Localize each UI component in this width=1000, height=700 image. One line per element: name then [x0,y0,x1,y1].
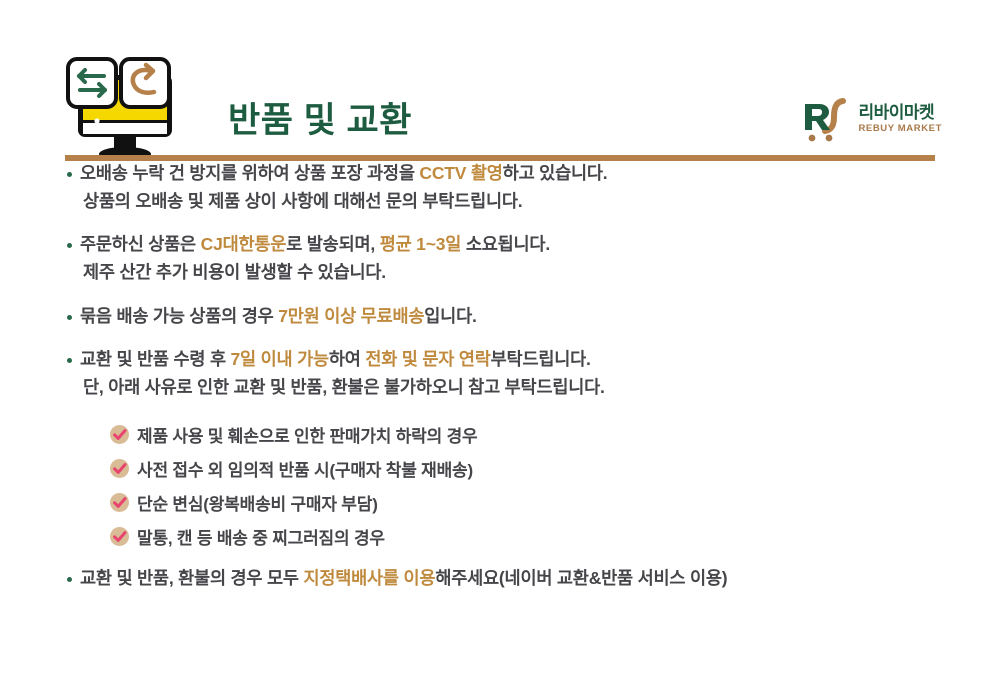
highlighted-text: 7일 이내 가능 [231,349,329,369]
check-circle-icon [110,527,129,546]
body-text: 하여 [329,349,365,369]
body-text: 해주세요(네이버 교환&반품 서비스 이용) [435,568,727,588]
check-list-item: 사전 접수 외 임의적 반품 시(구매자 착불 재배송) [0,451,1000,485]
bullet-dot-icon [67,577,72,582]
check-item-label: 제품 사용 및 훼손으로 인한 판매가치 하락의 경우 [137,422,477,447]
check-item-label: 말통, 캔 등 배송 중 찌그러짐의 경우 [137,524,385,549]
bullet-item: 묶음 배송 가능 상품의 경우 7만원 이상 무료배송입니다. [0,303,1000,331]
bullet-line: 주문하신 상품은 CJ대한통운로 발송되며, 평균 1~3일 소요됩니다. [80,231,1000,259]
bullet-line: 오배송 누락 건 방지를 위하여 상품 포장 과정을 CCTV 촬영하고 있습니… [80,160,1000,188]
body-text: 주문하신 상품은 [80,234,201,254]
bullet-item: 주문하신 상품은 CJ대한통운로 발송되며, 평균 1~3일 소요됩니다.제주 … [0,231,1000,286]
highlighted-text: 7만원 이상 무료배송 [278,306,424,326]
highlighted-text: 지정택배사를 이용 [303,568,435,588]
page-header: 반품 및 교환 리바이마켓 REBUY MARKET [0,0,1000,160]
check-circle-icon [110,493,129,512]
body-text: 상품의 오배송 및 제품 상이 사항에 대해선 문의 부탁드립니다. [83,191,522,211]
bullet-line: 단, 아래 사유로 인한 교환 및 반품, 환불은 불가하오니 참고 부탁드립니… [80,374,1000,402]
check-circle-icon [110,425,129,444]
body-text: 단, 아래 사유로 인한 교환 및 반품, 환불은 불가하오니 참고 부탁드립니… [83,377,605,397]
exclusion-check-list: 제품 사용 및 훼손으로 인한 판매가치 하락의 경우사전 접수 외 임의적 반… [0,417,1000,553]
body-text: 오배송 누락 건 방지를 위하여 상품 포장 과정을 [80,163,419,183]
brand-text: 리바이마켓 REBUY MARKET [858,104,942,134]
highlighted-text: 평균 1~3일 [380,234,461,254]
bullet-line: 교환 및 반품, 환불의 경우 모두 지정택배사를 이용해주세요(네이버 교환&… [80,565,1000,593]
check-circle-icon [110,459,129,478]
bullet-dot-icon [67,172,72,177]
bullet-line: 교환 및 반품 수령 후 7일 이내 가능하여 전화 및 문자 연락부탁드립니다… [80,346,1000,374]
body-text: 제주 산간 추가 비용이 발생할 수 있습니다. [83,262,386,282]
rebuy-cart-r-logo [799,96,851,142]
bullet-item: 교환 및 반품, 환불의 경우 모두 지정택배사를 이용해주세요(네이버 교환&… [0,565,1000,593]
highlighted-text: CCTV 촬영 [419,163,502,183]
check-item-label: 사전 접수 외 임의적 반품 시(구매자 착불 재배송) [137,456,473,481]
body-text: 소요됩니다. [461,234,550,254]
body-text: 로 발송되며, [286,234,380,254]
highlighted-text: 전화 및 문자 연락 [365,349,490,369]
bullet-item: 오배송 누락 건 방지를 위하여 상품 포장 과정을 CCTV 촬영하고 있습니… [0,160,1000,215]
bullet-line: 제주 산간 추가 비용이 발생할 수 있습니다. [80,259,1000,287]
bullet-list: 오배송 누락 건 방지를 위하여 상품 포장 과정을 CCTV 촬영하고 있습니… [0,160,1000,401]
bullet-dot-icon [67,243,72,248]
check-list-item: 단순 변심(왕복배송비 구매자 부담) [0,485,1000,519]
return-exchange-monitor-icon [64,57,186,161]
bullet-dot-icon [67,358,72,363]
body-text: 하고 있습니다. [503,163,608,183]
page-title: 반품 및 교환 [228,92,412,143]
final-bullet-block: 교환 및 반품, 환불의 경우 모두 지정택배사를 이용해주세요(네이버 교환&… [0,565,1000,593]
check-item-label: 단순 변심(왕복배송비 구매자 부담) [137,490,378,515]
bullet-line: 상품의 오배송 및 제품 상이 사항에 대해선 문의 부탁드립니다. [80,188,1000,216]
brand-name-en: REBUY MARKET [858,124,942,134]
body-text: 부탁드립니다. [491,349,591,369]
check-list-item: 제품 사용 및 훼손으로 인한 판매가치 하락의 경우 [0,417,1000,451]
body-text: 묶음 배송 가능 상품의 경우 [80,306,278,326]
brand-logo: 리바이마켓 REBUY MARKET [799,96,942,142]
body-text: 교환 및 반품, 환불의 경우 모두 [80,568,303,588]
body-text: 교환 및 반품 수령 후 [80,349,231,369]
bullet-item: 교환 및 반품 수령 후 7일 이내 가능하여 전화 및 문자 연락부탁드립니다… [0,346,1000,401]
brand-name-ko: 리바이마켓 [858,104,942,121]
policy-content: 오배송 누락 건 방지를 위하여 상품 포장 과정을 CCTV 촬영하고 있습니… [0,160,1000,609]
bullet-line: 묶음 배송 가능 상품의 경우 7만원 이상 무료배송입니다. [80,303,1000,331]
check-list-item: 말통, 캔 등 배송 중 찌그러짐의 경우 [0,519,1000,553]
highlighted-text: CJ대한통운 [201,234,287,254]
bullet-dot-icon [67,315,72,320]
body-text: 입니다. [424,306,476,326]
